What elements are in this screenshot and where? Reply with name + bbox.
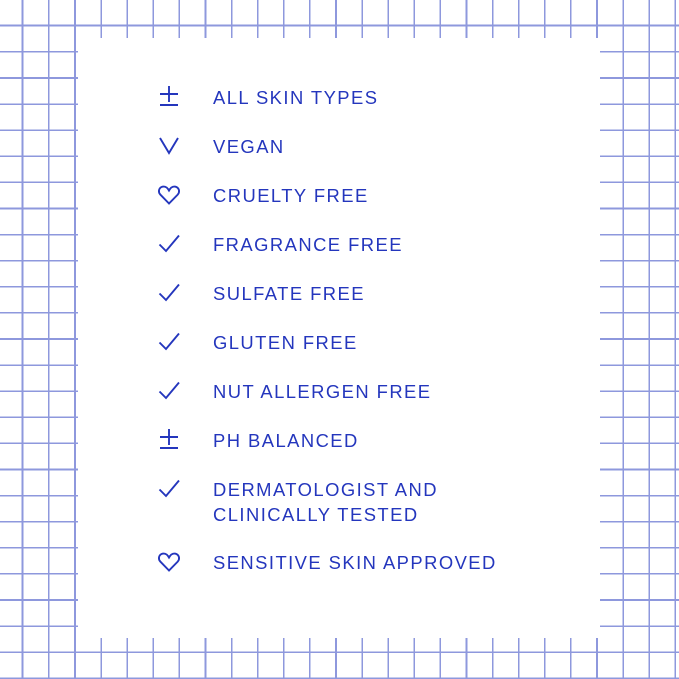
list-item-label: FRAGRANCE FREE: [213, 231, 403, 257]
check-icon: [157, 327, 187, 357]
list-item-label: SENSITIVE SKIN APPROVED: [213, 549, 497, 575]
plus-minus-icon: [157, 425, 187, 455]
list-item-label: CRUELTY FREE: [213, 182, 369, 208]
check-icon: [157, 278, 187, 308]
list-item-label: PH BALANCED: [213, 427, 359, 453]
plus-minus-icon: [157, 82, 187, 112]
list-item-label: GLUTEN FREE: [213, 329, 358, 355]
check-icon: [157, 229, 187, 259]
vegan-v-icon: [157, 131, 187, 161]
check-icon: [157, 376, 187, 406]
check-icon: [157, 474, 187, 504]
heart-icon: [157, 547, 187, 577]
list-item-label: DERMATOLOGIST AND CLINICALLY TESTED: [213, 476, 438, 527]
list-item-label: NUT ALLERGEN FREE: [213, 378, 432, 404]
list-item-label: VEGAN: [213, 133, 285, 159]
heart-icon: [157, 180, 187, 210]
benefits-card-canvas: ALL SKIN TYPES VEGAN CRUELTY FREE: [0, 0, 679, 679]
list-item-label: ALL SKIN TYPES: [213, 84, 378, 110]
list-item-label: SULFATE FREE: [213, 280, 365, 306]
